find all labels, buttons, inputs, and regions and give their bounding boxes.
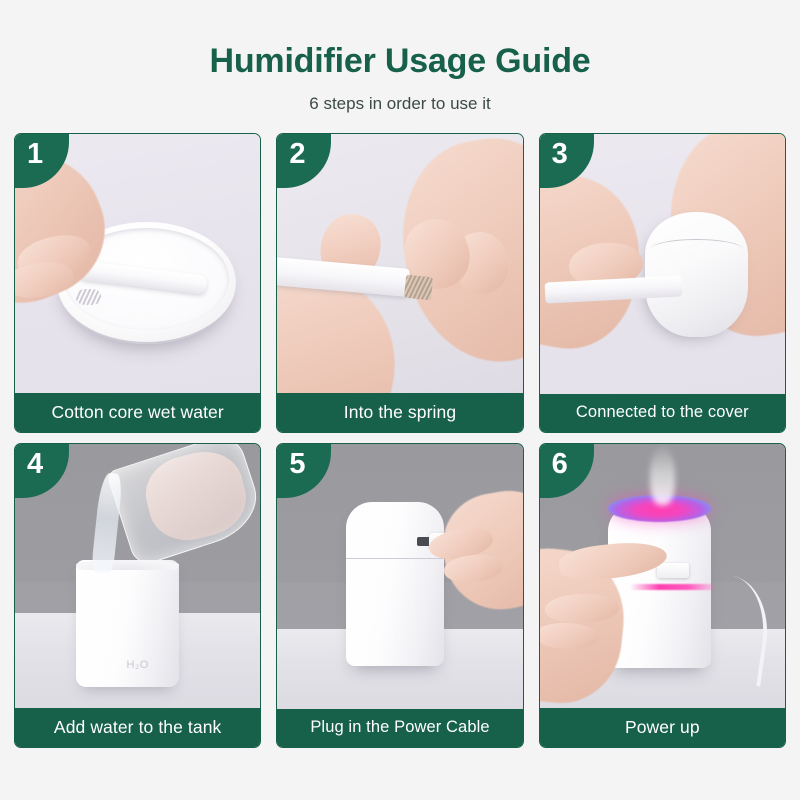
steps-grid: 1 Cotton core wet water 2 Into the sprin… [14,133,786,748]
humidifier-seam [346,558,444,559]
humidifier-cover [645,212,748,337]
step-caption-3: Connected to the cover [540,394,785,432]
infographic-page: Humidifier Usage Guide 6 steps in order … [0,0,800,800]
led-glow-line [630,584,713,590]
step-number: 3 [552,140,568,169]
step-caption-2: Into the spring [277,393,522,432]
step-caption-1: Cotton core wet water [15,393,260,432]
step-5-illustration: 5 [277,444,522,709]
step-card-1[interactable]: 1 Cotton core wet water [14,133,261,433]
tank-label: H₂O [15,659,260,671]
spring-coil [76,289,101,305]
step-caption-6: Power up [540,708,785,747]
step-card-5[interactable]: 5 Plug in the Power Cable [276,443,523,748]
step-card-6[interactable]: 6 Power up [539,443,786,748]
step-number: 4 [27,450,43,479]
page-header: Humidifier Usage Guide 6 steps in order … [14,0,786,115]
step-caption-4: Add water to the tank [15,708,260,747]
step-4-illustration: H₂O 4 [15,444,260,708]
step-caption-5: Plug in the Power Cable [277,709,522,747]
page-subtitle: 6 steps in order to use it [14,94,786,114]
page-title: Humidifier Usage Guide [14,42,786,81]
step-2-illustration: 2 [277,134,522,393]
step-card-2[interactable]: 2 Into the spring [276,133,523,433]
step-6-illustration: 6 [540,444,785,708]
step-3-illustration: 3 [540,134,785,394]
mist-plume [650,446,675,504]
step-1-illustration: 1 [15,134,260,393]
humidifier-body [346,502,444,666]
step-number: 2 [289,140,305,169]
spring-coil [404,275,433,301]
step-card-4[interactable]: H₂O 4 Add water to the tank [14,443,261,748]
step-number: 5 [289,450,305,479]
step-number: 6 [552,450,568,479]
power-button[interactable] [657,563,689,579]
step-number: 1 [27,140,43,169]
step-card-3[interactable]: 3 Connected to the cover [539,133,786,433]
